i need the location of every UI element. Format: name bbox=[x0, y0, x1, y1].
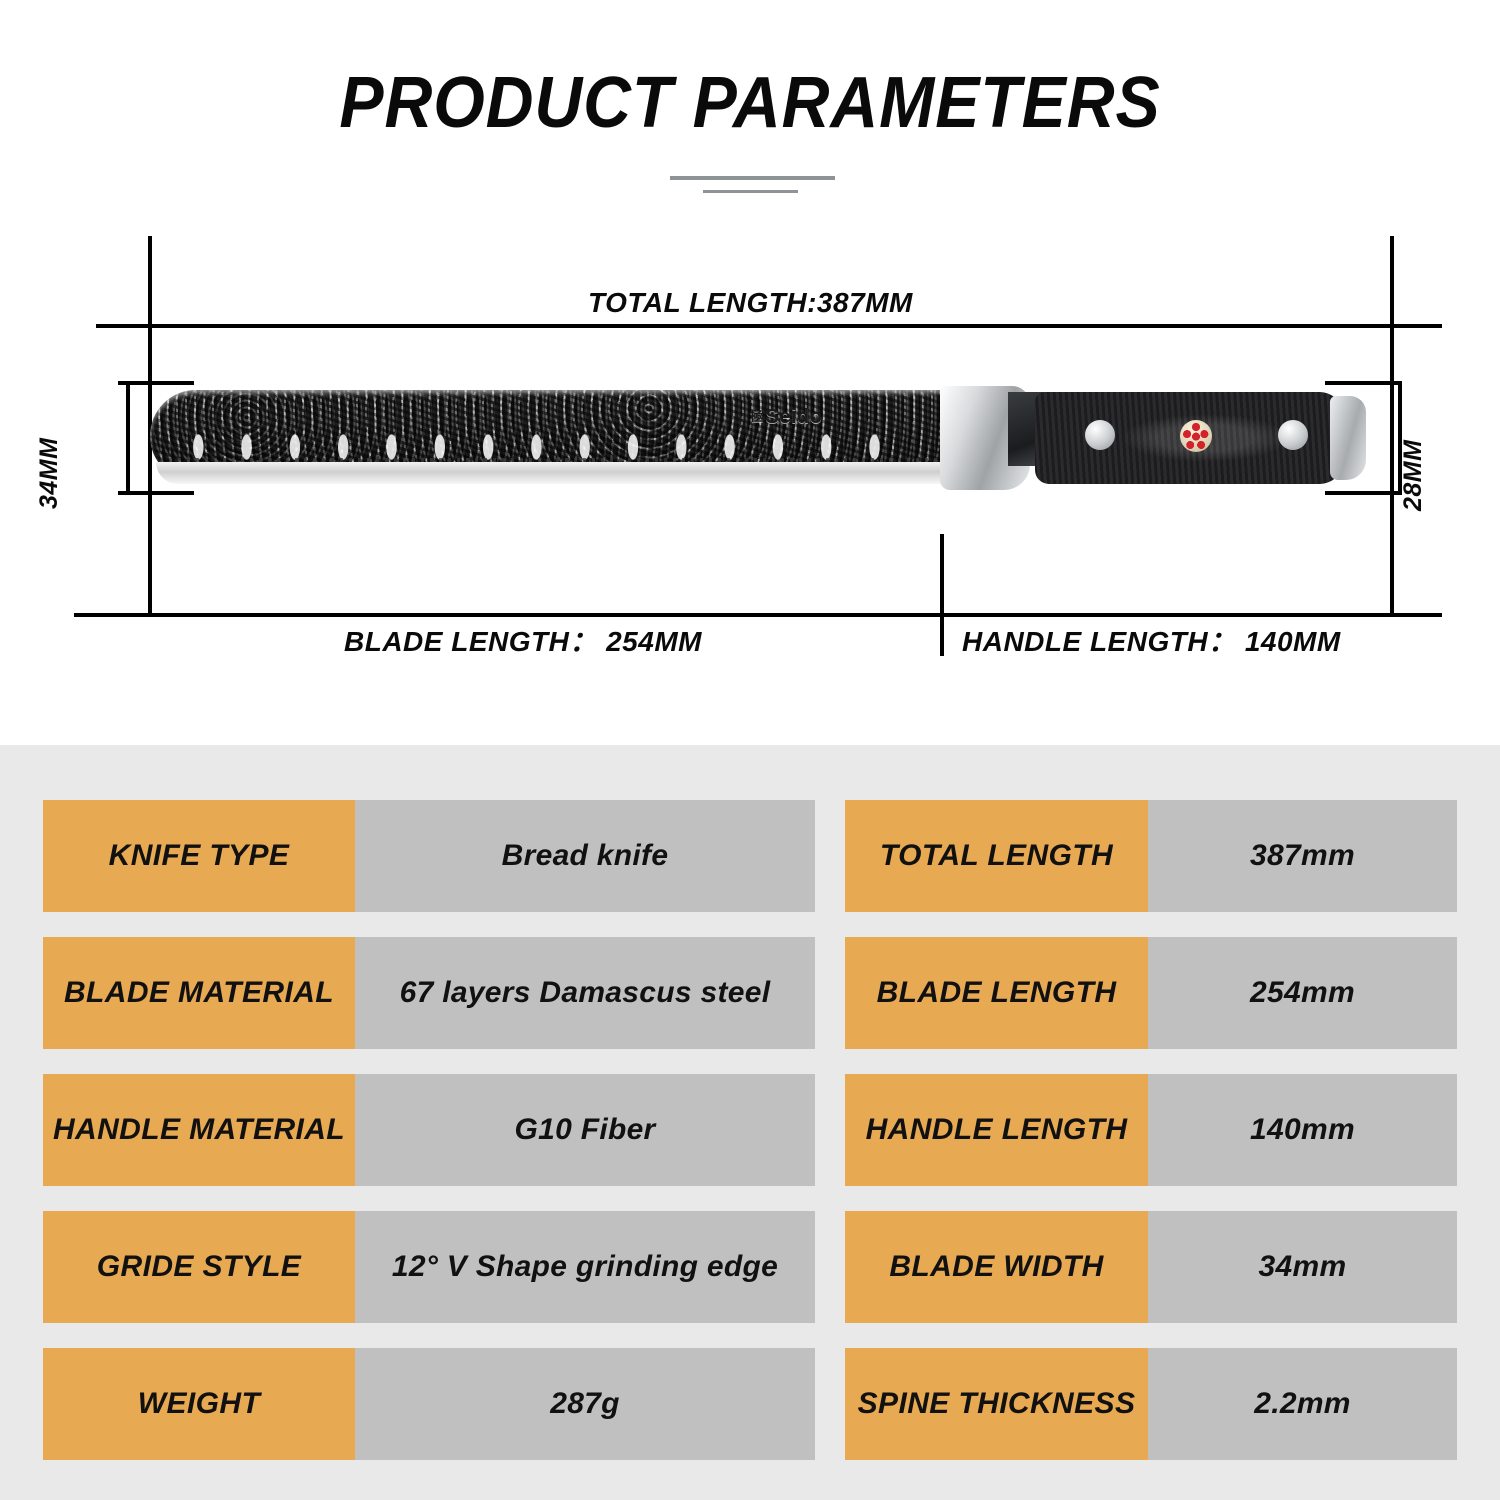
spec-value: G10 Fiber bbox=[355, 1074, 815, 1186]
spec-value: 34mm bbox=[1148, 1211, 1457, 1323]
total-length-label: TOTAL LENGTH:387MM bbox=[588, 287, 913, 319]
blade-width-label: 34MM bbox=[35, 438, 64, 509]
spec-row-blade-material: BLADE MATERIAL 67 layers Damascus steel bbox=[43, 937, 815, 1049]
blade-handle-split-line bbox=[940, 534, 944, 656]
handle-mosaic-pin bbox=[1180, 420, 1212, 452]
spec-row-blade-width: BLADE WIDTH 34mm bbox=[845, 1211, 1457, 1323]
spec-label: HANDLE MATERIAL bbox=[43, 1074, 355, 1186]
bottom-dimension-line bbox=[74, 613, 1442, 617]
spec-value: 140mm bbox=[1148, 1074, 1457, 1186]
spec-value: 12° V Shape grinding edge bbox=[355, 1211, 815, 1323]
spec-row-handle-material: HANDLE MATERIAL G10 Fiber bbox=[43, 1074, 815, 1186]
spec-label: BLADE WIDTH bbox=[845, 1211, 1148, 1323]
spec-row-gride-style: GRIDE STYLE 12° V Shape grinding edge bbox=[43, 1211, 815, 1323]
handle-rivet-rear bbox=[1278, 420, 1308, 450]
extension-line-right-outer bbox=[1390, 236, 1394, 616]
blade-width-dimension-line bbox=[126, 381, 130, 495]
spec-value: 387mm bbox=[1148, 800, 1457, 912]
handle-butt-cap bbox=[1330, 396, 1366, 480]
brand-name: Seido bbox=[766, 406, 823, 428]
blade-cutting-edge bbox=[156, 462, 956, 484]
brand-kanji-mark: 極 bbox=[750, 409, 764, 424]
spec-value: 254mm bbox=[1148, 937, 1457, 1049]
spec-label: GRIDE STYLE bbox=[43, 1211, 355, 1323]
product-diagram-section: PRODUCT PARAMETERS TOTAL LENGTH:387MM 34… bbox=[0, 0, 1500, 745]
spec-value: Bread knife bbox=[355, 800, 815, 912]
spec-label: HANDLE LENGTH bbox=[845, 1074, 1148, 1186]
spec-label: BLADE LENGTH bbox=[845, 937, 1148, 1049]
spec-row-knife-type: KNIFE TYPE Bread knife bbox=[43, 800, 815, 912]
spec-value: 2.2mm bbox=[1148, 1348, 1457, 1460]
spec-row-spine-thickness: SPINE THICKNESS 2.2mm bbox=[845, 1348, 1457, 1460]
title-divider-short bbox=[703, 190, 798, 193]
spec-row-handle-length: HANDLE LENGTH 140mm bbox=[845, 1074, 1457, 1186]
spec-label: TOTAL LENGTH bbox=[845, 800, 1148, 912]
spec-value: 287g bbox=[355, 1348, 815, 1460]
page-title: PRODUCT PARAMETERS bbox=[60, 62, 1440, 144]
spec-row-weight: WEIGHT 287g bbox=[43, 1348, 815, 1460]
spec-label: WEIGHT bbox=[43, 1348, 355, 1460]
handle-length-label: HANDLE LENGTH： 140MM bbox=[962, 620, 1341, 660]
total-length-dimension-line bbox=[96, 324, 1442, 328]
spec-row-total-length: TOTAL LENGTH 387mm bbox=[845, 800, 1457, 912]
handle-height-label: 28MM bbox=[1399, 440, 1428, 511]
blade-length-label: BLADE LENGTH： 254MM bbox=[344, 620, 702, 660]
specifications-section: KNIFE TYPE Bread knife BLADE MATERIAL 67… bbox=[0, 745, 1500, 1500]
knife-illustration: 極Seido bbox=[150, 380, 1360, 498]
brand-logo: 極Seido bbox=[750, 406, 822, 429]
spec-value: 67 layers Damascus steel bbox=[355, 937, 815, 1049]
handle-rivet-front bbox=[1085, 420, 1115, 450]
spec-label: SPINE THICKNESS bbox=[845, 1348, 1148, 1460]
spec-label: KNIFE TYPE bbox=[43, 800, 355, 912]
spec-label: BLADE MATERIAL bbox=[43, 937, 355, 1049]
spec-row-blade-length: BLADE LENGTH 254mm bbox=[845, 937, 1457, 1049]
title-divider-long bbox=[670, 176, 835, 180]
